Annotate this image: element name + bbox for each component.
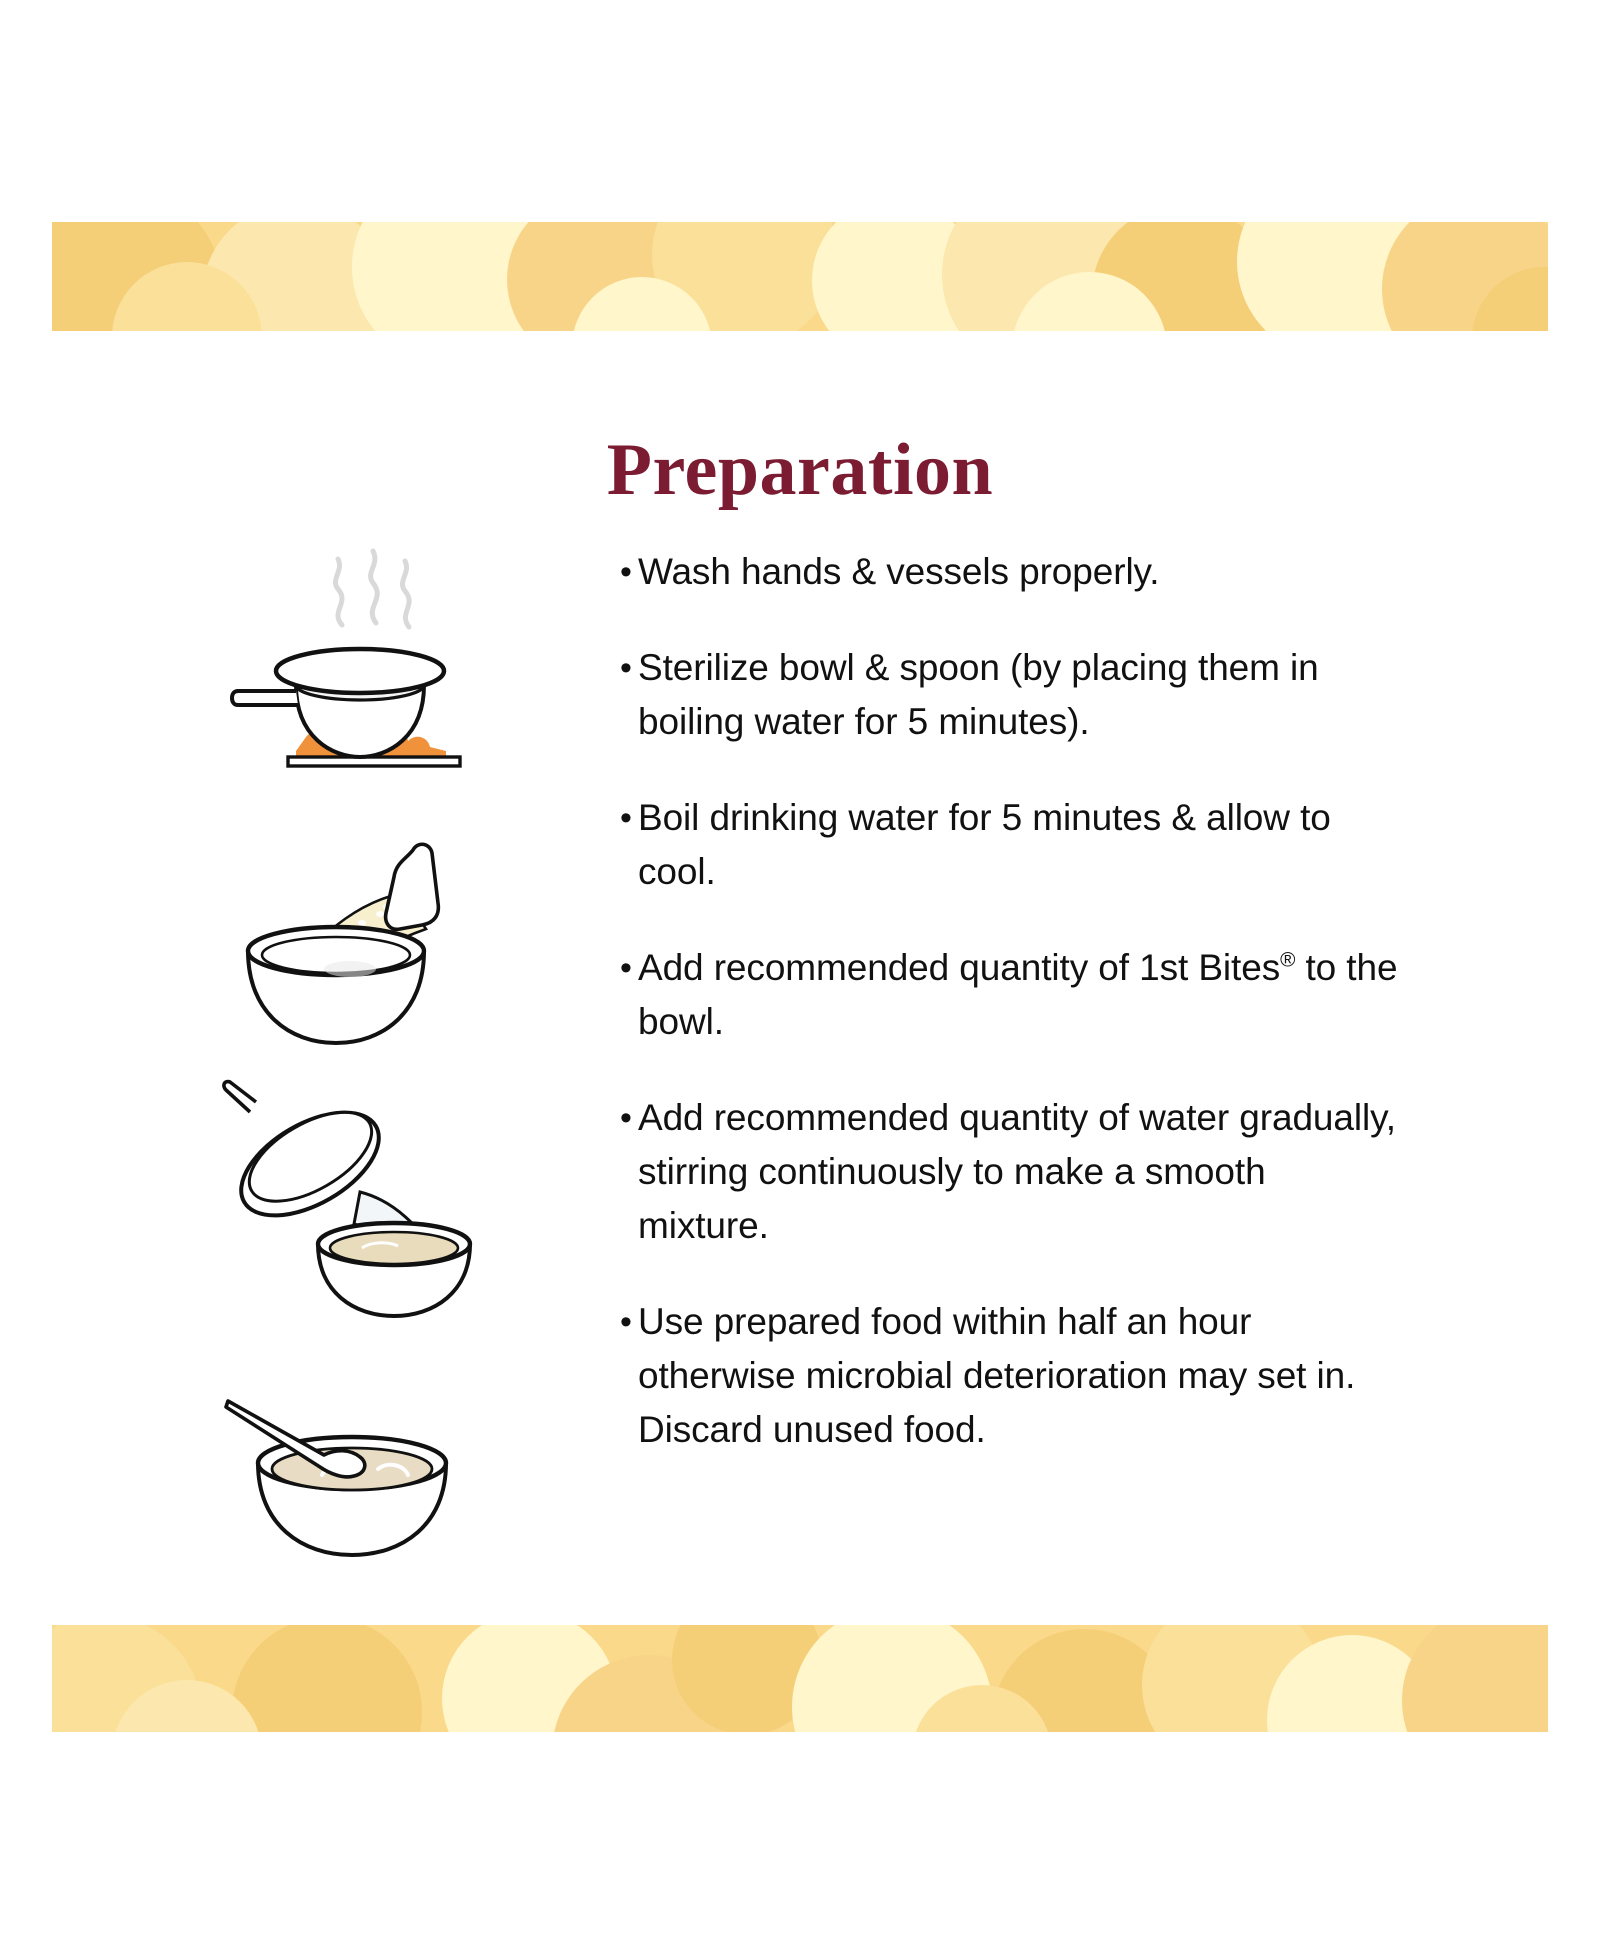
bokeh-band-top (52, 222, 1548, 331)
list-item-text-before: Add recommended quantity of 1st Bites (638, 947, 1280, 988)
illustration-column (210, 545, 520, 1585)
list-item: • Sterilize bowl & spoon (by placing the… (604, 641, 1404, 749)
content-area: • Wash hands & vessels properly. • Steri… (0, 545, 1600, 1585)
bullet-marker-icon: • (604, 791, 638, 845)
preparation-steps-list: • Wash hands & vessels properly. • Steri… (604, 545, 1404, 1499)
pouring-water-into-bowl-illustration (210, 1072, 510, 1322)
pan-handle (224, 1082, 256, 1112)
pouring-cereal-into-bowl-illustration (210, 817, 510, 1049)
list-item-text: Wash hands & vessels properly. (638, 545, 1404, 599)
bokeh-circle (232, 1625, 422, 1732)
burner-base (288, 757, 460, 766)
prepared-food-bowl-illustration (210, 1357, 510, 1565)
bowl-contents (330, 1232, 458, 1264)
pot-rim (276, 649, 444, 693)
bokeh-band-bottom (52, 1625, 1548, 1732)
list-item: • Wash hands & vessels properly. (604, 545, 1404, 599)
list-item: • Use prepared food within half an hour … (604, 1295, 1404, 1457)
list-item-text: Use prepared food within half an hour ot… (638, 1295, 1404, 1457)
scoop (386, 844, 439, 929)
list-item-text: Add recommended quantity of water gradua… (638, 1091, 1404, 1253)
slide-preparation: { "page": { "title": "Preparation", "tit… (0, 0, 1600, 1939)
bullet-marker-icon: • (604, 545, 638, 599)
list-item-text: Add recommended quantity of 1st Bites® t… (638, 941, 1404, 1049)
list-item: • Boil drinking water for 5 minutes & al… (604, 791, 1404, 899)
pot-handle (232, 691, 298, 705)
bullet-marker-icon: • (604, 941, 638, 995)
registered-trademark-symbol: ® (1280, 949, 1295, 972)
boiling-pot-on-flame-illustration (210, 545, 510, 785)
bullet-marker-icon: • (604, 1295, 638, 1349)
list-item-text: Boil drinking water for 5 minutes & allo… (638, 791, 1404, 899)
list-item: • Add recommended quantity of 1st Bites®… (604, 941, 1404, 1049)
bokeh-circle (1402, 1625, 1548, 1732)
page-title: Preparation (0, 432, 1600, 510)
bullet-marker-icon: • (604, 641, 638, 695)
list-item: • Add recommended quantity of water grad… (604, 1091, 1404, 1253)
bullet-marker-icon: • (604, 1091, 638, 1145)
list-item-text: Sterilize bowl & spoon (by placing them … (638, 641, 1404, 749)
